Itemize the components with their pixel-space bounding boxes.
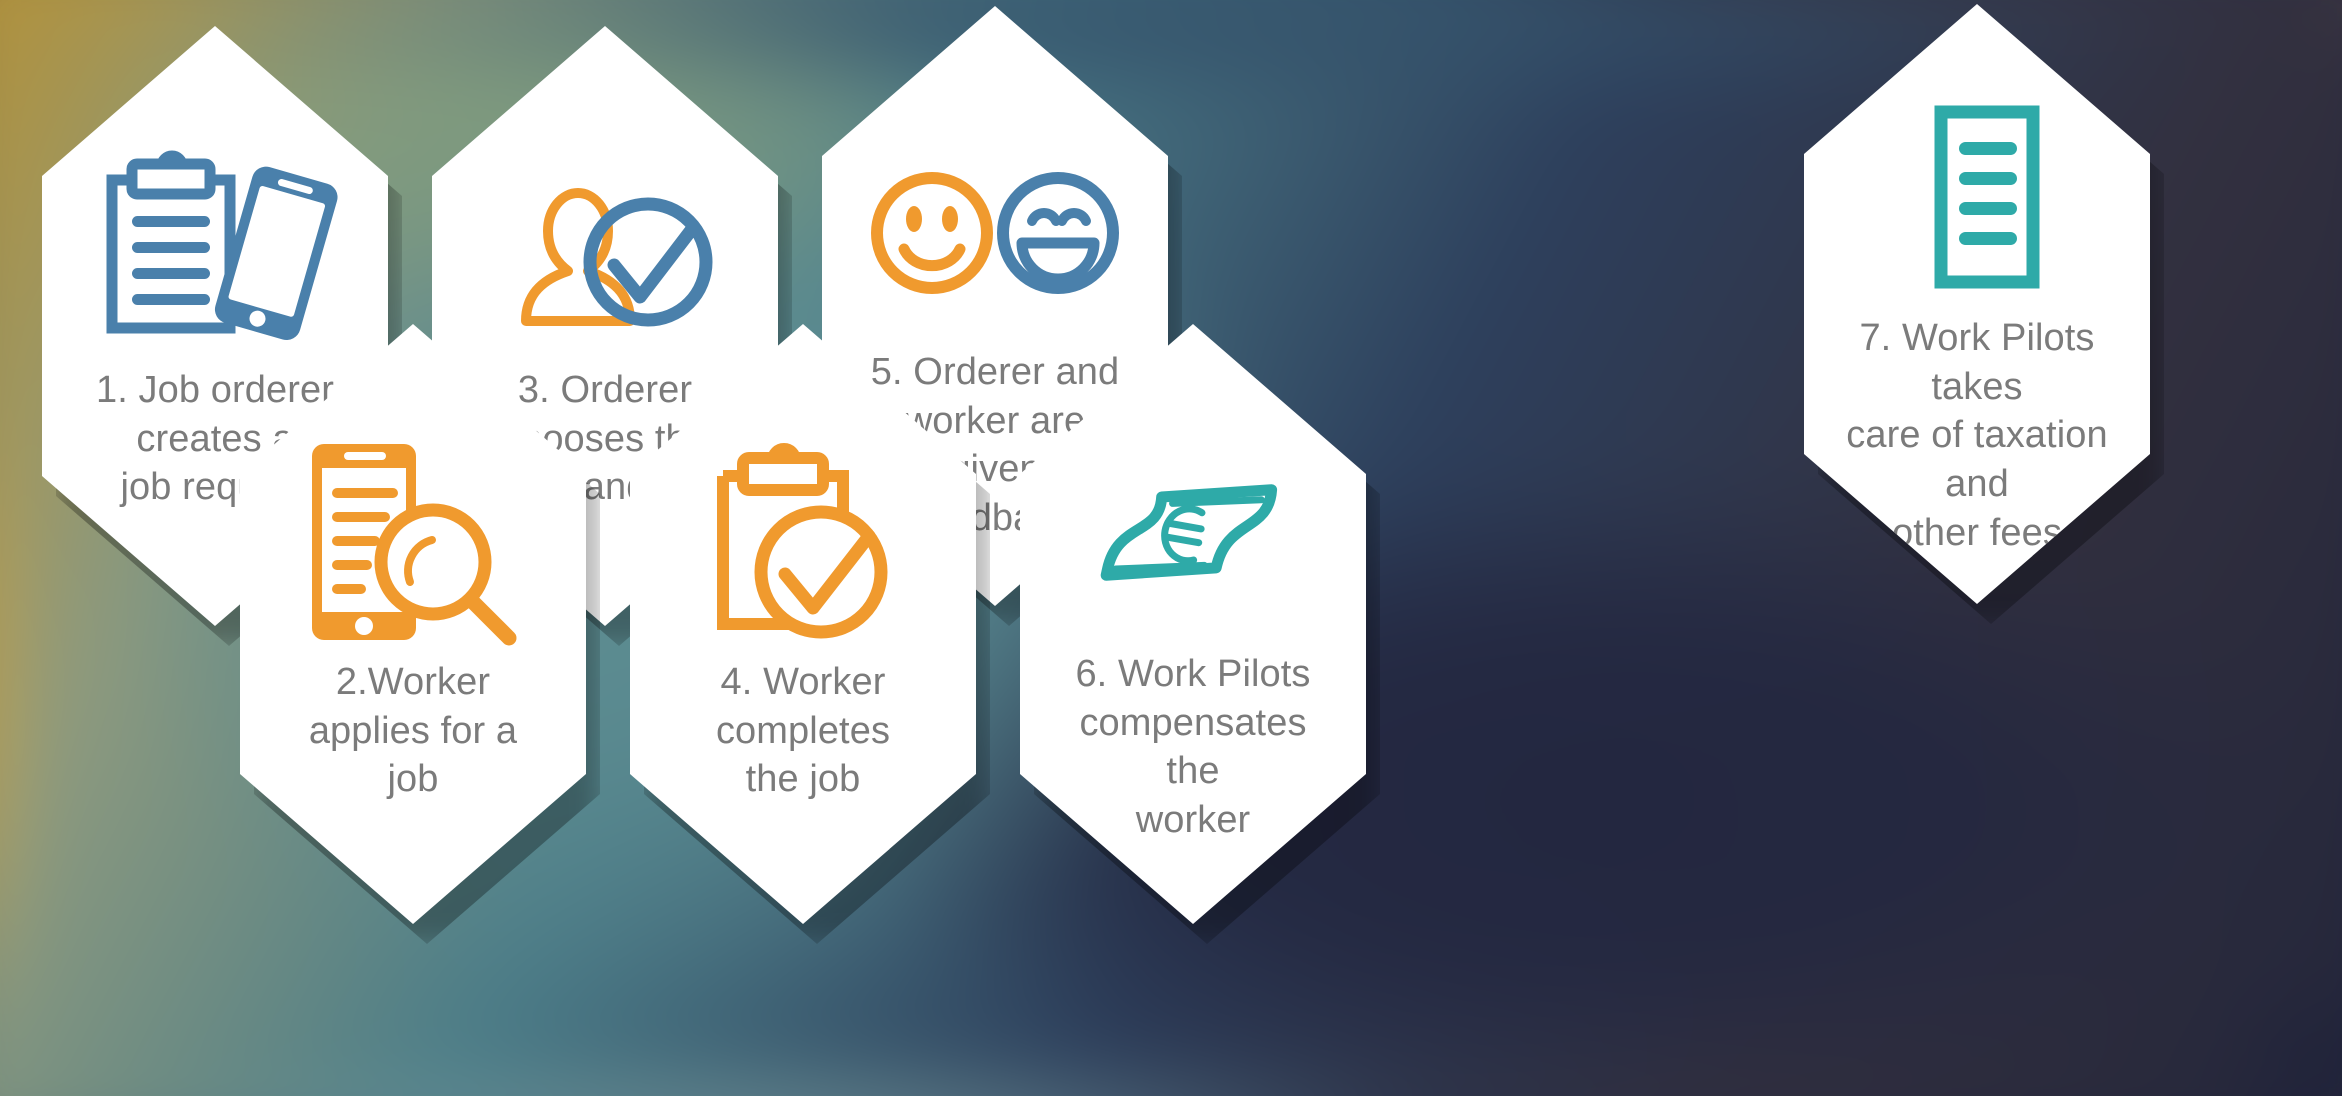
phone-document-search-icon — [240, 428, 586, 658]
clipboard-and-phone-icon — [42, 136, 388, 366]
person-with-check-circle-icon — [432, 136, 778, 366]
clipboard-check-circle-icon — [630, 428, 976, 658]
step-label-4: 4. Worker completes the job — [668, 658, 938, 804]
document-lines-icon — [1804, 84, 2150, 314]
step-label-6: 6. Work Pilots compensates the worker — [1058, 650, 1328, 845]
two-smiley-faces-icon — [822, 118, 1168, 348]
step-label-2: 2.Worker applies for a job — [278, 658, 548, 804]
step-label-7: 7. Work Pilots takes care of taxation an… — [1842, 314, 2112, 557]
euro-banknote-icon — [1020, 420, 1366, 650]
infographic-canvas: 1. Job orderer creates a job request 3. … — [0, 0, 2342, 1096]
